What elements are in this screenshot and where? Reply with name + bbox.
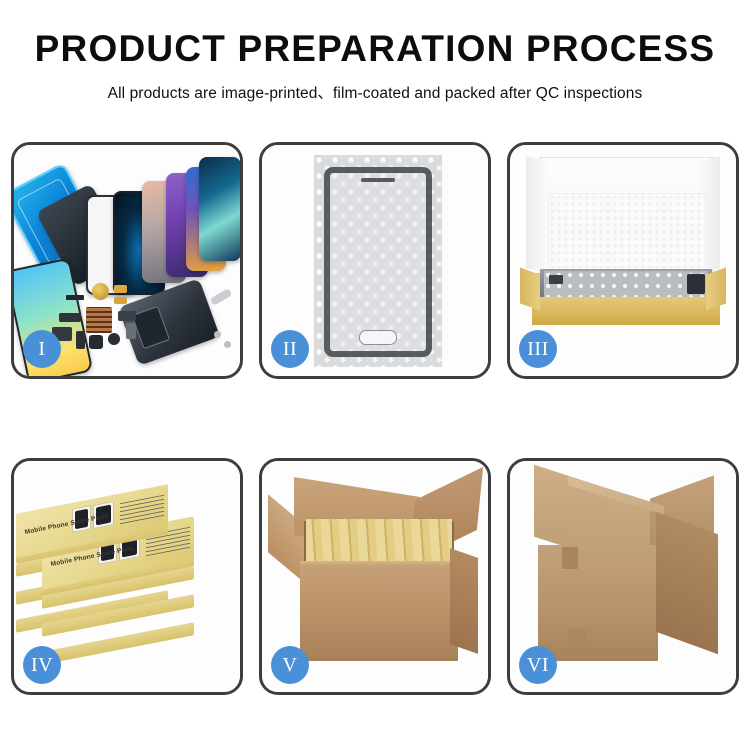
page-subtitle: All products are image-printed、film-coat… xyxy=(0,81,750,103)
ribbon-cable-icon xyxy=(59,313,81,322)
carton-front-icon xyxy=(538,545,658,661)
camera-lens-icon xyxy=(92,283,109,300)
button-strip-icon xyxy=(76,331,85,349)
wrapped-screen-icon xyxy=(324,167,432,357)
step-badge-4: IV xyxy=(23,646,61,684)
box-left-flap-icon xyxy=(520,267,540,310)
bracket-icon xyxy=(118,311,136,321)
home-button-icon xyxy=(359,330,397,345)
carton-front-icon xyxy=(300,565,458,661)
product-preparation-infographic: PRODUCT PREPARATION PROCESS All products… xyxy=(0,0,750,750)
chip-icon xyxy=(89,335,103,349)
box-right-flap-icon xyxy=(706,267,726,310)
screw-icon xyxy=(224,341,231,348)
step-panel-4: Mobile Phone Spare Parts Mobile Phone Sp… xyxy=(11,458,243,695)
steps-grid: I II xyxy=(11,142,739,695)
step-panel-3: III xyxy=(507,142,739,379)
screw-icon xyxy=(214,331,221,338)
step-badge-3: III xyxy=(519,330,557,368)
step-badge-1: I xyxy=(23,330,61,368)
phone-teal-icon xyxy=(199,157,240,261)
step-panel-2: II xyxy=(259,142,491,379)
kraft-box-front-icon xyxy=(532,297,720,325)
vibrator-icon xyxy=(108,333,120,345)
flex-cable-icon xyxy=(66,295,84,300)
page-title: PRODUCT PREPARATION PROCESS xyxy=(0,30,750,67)
earpiece-icon xyxy=(361,178,395,182)
foam-padding-icon xyxy=(548,193,706,281)
carton-side-icon xyxy=(450,548,478,654)
carton-side-icon xyxy=(656,512,718,655)
speaker-mesh-icon xyxy=(86,307,112,333)
connector-icon xyxy=(114,285,127,293)
box-lid-left-flap-icon xyxy=(526,156,548,273)
step-panel-6: VI xyxy=(507,458,739,695)
tweezers-icon xyxy=(209,288,232,306)
step-panel-1: I xyxy=(11,142,243,379)
step-badge-2: II xyxy=(271,330,309,368)
bubble-wrap-icon xyxy=(314,155,442,367)
wrapped-screen-in-box-icon xyxy=(544,271,708,297)
step-badge-6: VI xyxy=(519,646,557,684)
step-panel-5: V xyxy=(259,458,491,695)
carton-tape-patch-icon xyxy=(562,547,578,569)
sim-tray-icon xyxy=(126,323,136,339)
header: PRODUCT PREPARATION PROCESS All products… xyxy=(0,0,750,103)
step-badge-5: V xyxy=(271,646,309,684)
carton-tape-patch-icon xyxy=(568,629,586,651)
connector-small-icon xyxy=(114,297,127,304)
